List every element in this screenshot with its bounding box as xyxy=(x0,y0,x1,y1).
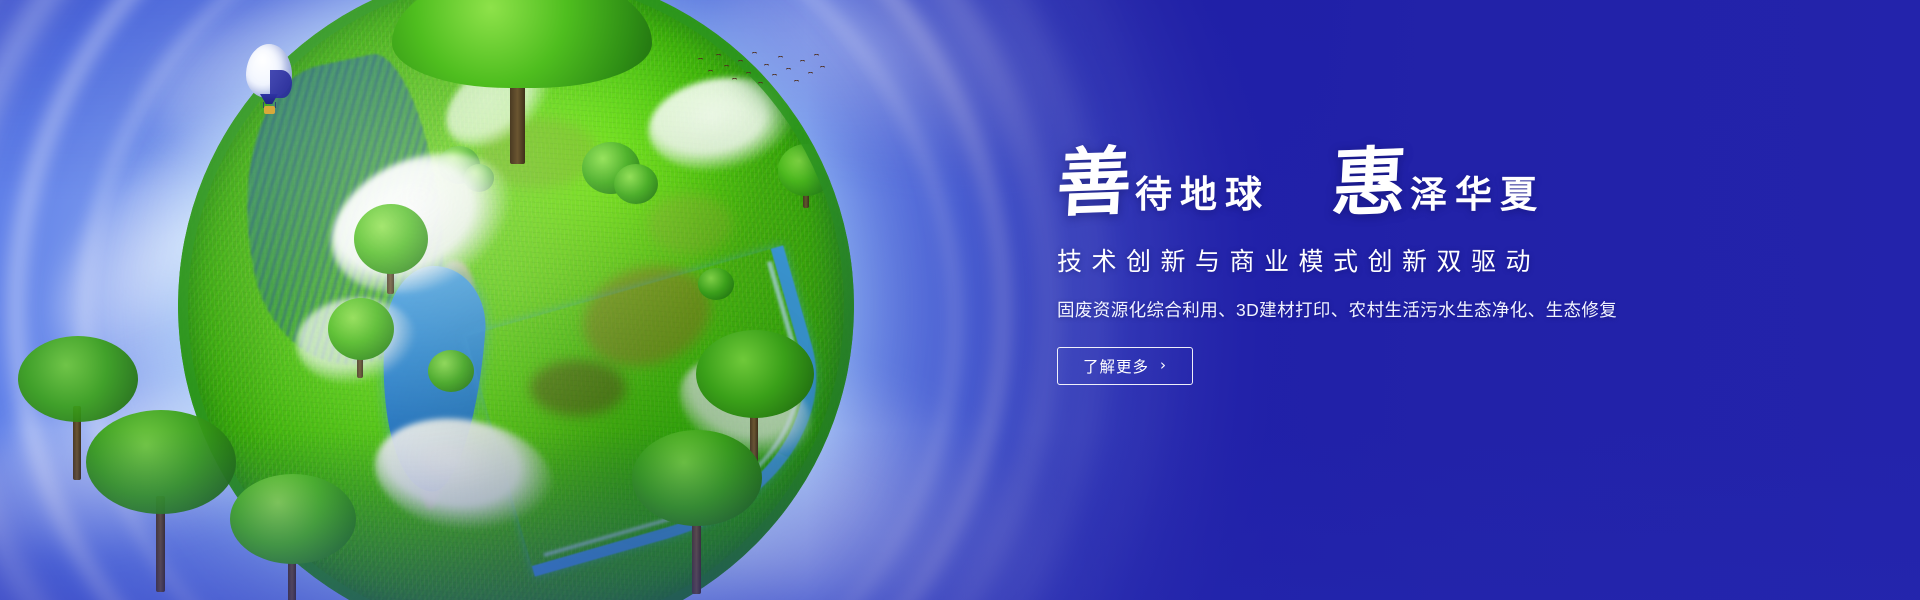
hero-banner: 善 待地球 惠 泽华夏 技术创新与商业模式创新双驱动 固废资源化综合利用、3D建… xyxy=(0,0,1920,600)
hero-text-block: 善 待地球 惠 泽华夏 技术创新与商业模式创新双驱动 固废资源化综合利用、3D建… xyxy=(1057,132,1757,385)
hero-description: 固废资源化综合利用、3D建材打印、农村生活污水生态净化、生态修复 xyxy=(1057,297,1757,322)
headline-char-shan: 善 xyxy=(1055,149,1133,221)
headline-text-zehuaxia: 泽华夏 xyxy=(1410,177,1545,220)
learn-more-label: 了解更多 xyxy=(1083,355,1149,377)
sky-bottom-shade xyxy=(0,430,1920,600)
hero-subtitle: 技术创新与商业模式创新双驱动 xyxy=(1057,242,1757,278)
page-title: 善 待地球 惠 泽华夏 xyxy=(1057,132,1757,220)
chevron-right-icon: › xyxy=(1160,358,1167,373)
learn-more-button[interactable]: 了解更多 › xyxy=(1057,347,1193,385)
headline-text-daidiqiu: 待地球 xyxy=(1135,177,1270,220)
headline-char-hui: 惠 xyxy=(1330,149,1408,221)
